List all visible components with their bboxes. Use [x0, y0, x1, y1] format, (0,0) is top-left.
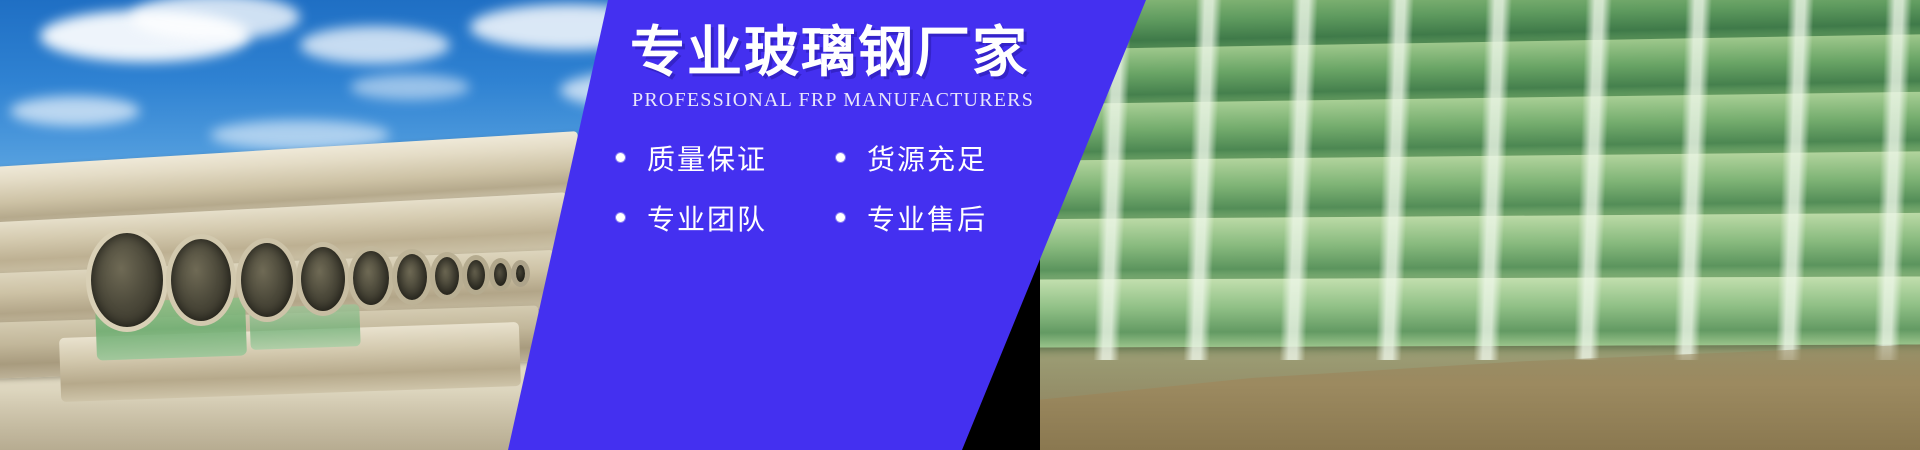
- bullet-dot-icon: [616, 153, 625, 162]
- pipe-opening: [511, 260, 530, 287]
- bullet-dot-icon: [836, 213, 845, 222]
- panel-content: 专业玻璃钢厂家 PROFESSIONAL FRP MANUFACTURERS 质…: [608, 0, 1168, 450]
- cloud-shape: [10, 96, 140, 126]
- pipe-opening: [166, 234, 236, 326]
- pipe-opening: [86, 228, 168, 332]
- feature-item: 质量保证: [616, 138, 836, 178]
- feature-item: 货源充足: [836, 138, 1056, 178]
- feature-label: 专业售后: [867, 198, 987, 238]
- pipe-opening: [430, 252, 464, 300]
- feature-label: 货源充足: [867, 138, 987, 178]
- feature-label: 专业团队: [647, 198, 767, 238]
- pipe-opening: [348, 246, 394, 310]
- pipe-opening: [489, 258, 512, 291]
- cloud-shape: [300, 26, 450, 64]
- pipe-opening: [296, 242, 350, 316]
- banner-title: 专业玻璃钢厂家: [630, 22, 1168, 84]
- feature-item: 专业售后: [836, 198, 1056, 238]
- feature-list: 质量保证 货源充足 专业团队 专业售后: [616, 138, 1168, 238]
- pipe-opening: [392, 249, 432, 305]
- pipe-opening: [236, 238, 298, 322]
- banner-subtitle: PROFESSIONAL FRP MANUFACTURERS: [632, 89, 1168, 112]
- right-product-photo: [1040, 0, 1920, 450]
- feature-item: 专业团队: [616, 198, 836, 238]
- feature-label: 质量保证: [647, 138, 767, 178]
- pipe-opening: [462, 255, 490, 295]
- cloud-shape: [350, 74, 470, 100]
- promotional-banner: 专业玻璃钢厂家 PROFESSIONAL FRP MANUFACTURERS 质…: [0, 0, 1920, 450]
- bullet-dot-icon: [616, 213, 625, 222]
- bullet-dot-icon: [836, 153, 845, 162]
